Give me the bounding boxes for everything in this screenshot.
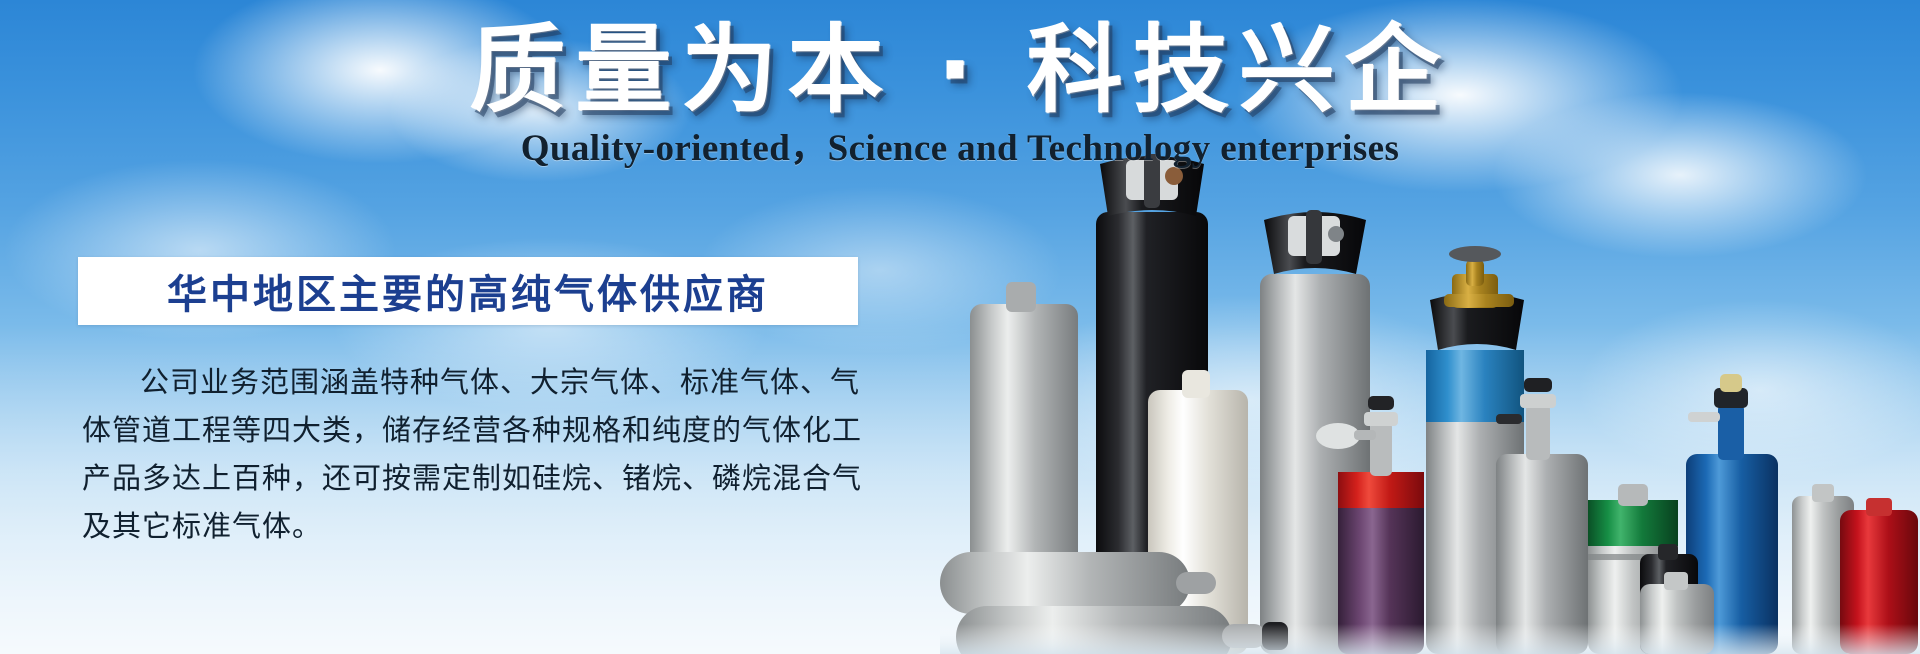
cylinder-grey-medium bbox=[1496, 378, 1588, 654]
promo-banner: 质量为本 · 科技兴企 Quality-oriented，Science and… bbox=[0, 0, 1920, 654]
body-copy: 公司业务范围涵盖特种气体、大宗气体、标准气体、气体管道工程等四大类，储存经营各种… bbox=[82, 358, 882, 550]
page-title: 质量为本 · 科技兴企 bbox=[469, 14, 1450, 127]
cylinder-grey-lying-upper bbox=[940, 552, 1216, 614]
page-subtitle: Quality-oriented，Science and Technology … bbox=[0, 129, 1920, 170]
headline-block: 质量为本 · 科技兴企 Quality-oriented，Science and… bbox=[0, 14, 1920, 170]
tagline-box: 华中地区主要的高纯气体供应商 bbox=[78, 257, 858, 325]
gas-cylinders-photo bbox=[940, 154, 1920, 654]
body-paragraph: 公司业务范围涵盖特种气体、大宗气体、标准气体、气体管道工程等四大类，储存经营各种… bbox=[82, 358, 882, 550]
tagline-text: 华中地区主要的高纯气体供应商 bbox=[167, 262, 769, 320]
